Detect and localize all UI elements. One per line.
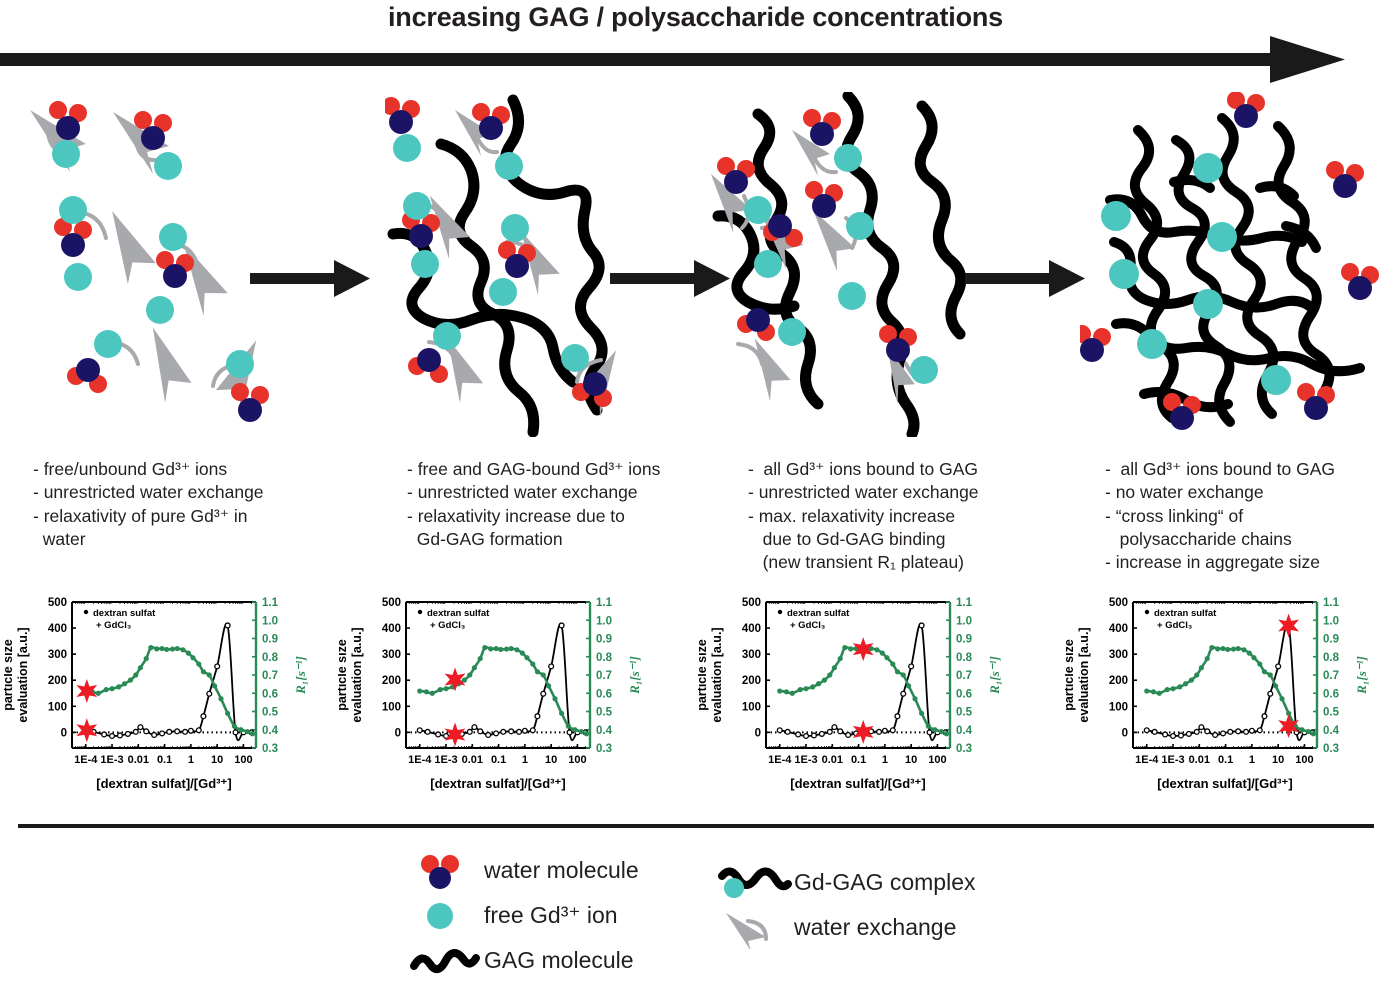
- svg-text:0.01: 0.01: [462, 754, 483, 766]
- legend-item-gag-molecule: GAG molecule: [408, 938, 639, 983]
- legend-item-water-molecule: water molecule: [408, 848, 639, 893]
- svg-text:10: 10: [211, 754, 223, 766]
- svg-text:R₁[s⁻¹]: R₁[s⁻¹]: [293, 656, 308, 695]
- svg-text:100: 100: [928, 754, 946, 766]
- legend-label: GAG molecule: [484, 947, 634, 974]
- svg-text:1: 1: [522, 754, 528, 766]
- svg-text:200: 200: [48, 675, 67, 687]
- legend-item-gd-gag-complex: Gd-GAG complex: [718, 860, 976, 905]
- svg-text:100: 100: [48, 701, 67, 713]
- svg-text:1: 1: [188, 754, 194, 766]
- svg-text:0.9: 0.9: [596, 634, 612, 646]
- svg-text:0.4: 0.4: [956, 725, 973, 737]
- legend-item-gd-ion: free Gd³⁺ ion: [408, 893, 639, 938]
- panel-3-description: - all Gd³⁺ ions bound to GAG - unrestric…: [748, 458, 1088, 574]
- svg-text:500: 500: [382, 597, 401, 609]
- gd-ion-icon: [408, 895, 484, 937]
- svg-text:0.8: 0.8: [956, 652, 973, 664]
- svg-text:0: 0: [395, 727, 401, 739]
- svg-text:400: 400: [382, 623, 401, 635]
- svg-text:evaluation [a.u.]: evaluation [a.u.]: [710, 627, 724, 722]
- svg-text:0.01: 0.01: [1189, 754, 1210, 766]
- svg-text:0.8: 0.8: [1323, 652, 1340, 664]
- bullet-item: - all Gd³⁺ ions bound to GAG: [1105, 458, 1390, 481]
- gd-ion-group: [52, 140, 254, 378]
- svg-text:0.4: 0.4: [262, 725, 279, 737]
- increasing-concentration-arrow-icon: [0, 33, 1391, 88]
- svg-text:400: 400: [1109, 623, 1128, 635]
- svg-text:1.0: 1.0: [956, 615, 972, 627]
- svg-text:1: 1: [882, 754, 888, 766]
- svg-text:R₁[s⁻¹]: R₁[s⁻¹]: [1354, 656, 1369, 695]
- svg-text:200: 200: [382, 675, 401, 687]
- svg-text:[dextran sulfat]/[Gd³⁺]: [dextran sulfat]/[Gd³⁺]: [96, 776, 231, 791]
- svg-text:0.1: 0.1: [157, 754, 172, 766]
- svg-text:0.5: 0.5: [956, 707, 973, 719]
- svg-text:0: 0: [755, 727, 761, 739]
- svg-text:R₁[s⁻¹]: R₁[s⁻¹]: [987, 656, 1002, 695]
- svg-text:300: 300: [48, 649, 67, 661]
- page-title: increasing GAG / polysaccharide concentr…: [0, 2, 1391, 33]
- svg-text:0.9: 0.9: [262, 634, 278, 646]
- figure-legend: water molecule free Gd³⁺ ion GAG molecul…: [0, 848, 1391, 975]
- stage-arrow-3-icon: [965, 258, 1085, 300]
- svg-text:+ GdCl₃: + GdCl₃: [1157, 620, 1192, 631]
- svg-text:500: 500: [1109, 597, 1128, 609]
- bullet-item: - unrestricted water exchange: [33, 481, 353, 504]
- svg-text:0.4: 0.4: [596, 725, 613, 737]
- bullet-item: - free and GAG-bound Gd³⁺ ions: [407, 458, 737, 481]
- svg-text:1.1: 1.1: [596, 597, 613, 609]
- gd-ion-group: [393, 134, 589, 372]
- svg-text:1E-3: 1E-3: [794, 754, 817, 766]
- bullet-item: - free/unbound Gd³⁺ ions: [33, 458, 353, 481]
- panel-illustration-all-bound: [700, 92, 990, 437]
- svg-text:0.6: 0.6: [956, 688, 972, 700]
- svg-text:particle size: particle size: [4, 639, 15, 711]
- panel-1-description: - free/unbound Gd³⁺ ions - unrestricted …: [33, 458, 353, 551]
- svg-text:0.1: 0.1: [491, 754, 506, 766]
- bullet-item: Gd-GAG formation: [407, 528, 737, 551]
- chart-panel-1: 01002003004005000.30.40.50.60.70.80.91.0…: [4, 588, 324, 793]
- chart-panel-3: 01002003004005000.30.40.50.60.70.80.91.0…: [698, 588, 1018, 793]
- svg-text:[dextran sulfat]/[Gd³⁺]: [dextran sulfat]/[Gd³⁺]: [1157, 776, 1292, 791]
- svg-text:dextran sulfat: dextran sulfat: [427, 608, 490, 619]
- svg-text:0.5: 0.5: [1323, 707, 1340, 719]
- section-divider: [18, 824, 1374, 828]
- svg-text:0.6: 0.6: [596, 688, 612, 700]
- svg-text:1.1: 1.1: [262, 597, 279, 609]
- svg-text:dextran sulfat: dextran sulfat: [787, 608, 850, 619]
- svg-text:0: 0: [61, 727, 67, 739]
- svg-text:0.8: 0.8: [596, 652, 613, 664]
- svg-text:0.6: 0.6: [262, 688, 278, 700]
- svg-text:0.3: 0.3: [596, 743, 612, 755]
- svg-text:200: 200: [1109, 675, 1128, 687]
- bullet-item: - unrestricted water exchange: [748, 481, 1088, 504]
- legend-item-water-exchange: water exchange: [718, 905, 976, 950]
- svg-text:0: 0: [1122, 727, 1128, 739]
- svg-text:0.5: 0.5: [596, 707, 613, 719]
- svg-text:0.7: 0.7: [1323, 670, 1339, 682]
- svg-text:0.01: 0.01: [128, 754, 149, 766]
- svg-text:100: 100: [1109, 701, 1128, 713]
- svg-text:1E-4: 1E-4: [74, 754, 98, 766]
- svg-text:0.6: 0.6: [1323, 688, 1339, 700]
- svg-text:particle size: particle size: [1065, 639, 1076, 711]
- svg-text:[dextran sulfat]/[Gd³⁺]: [dextran sulfat]/[Gd³⁺]: [790, 776, 925, 791]
- svg-text:0.7: 0.7: [956, 670, 972, 682]
- svg-text:1.0: 1.0: [596, 615, 612, 627]
- bullet-item: - unrestricted water exchange: [407, 481, 737, 504]
- bullet-item: - relaxativity of pure Gd³⁺ in: [33, 505, 353, 528]
- svg-text:500: 500: [48, 597, 67, 609]
- panel-2-description: - free and GAG-bound Gd³⁺ ions - unrestr…: [407, 458, 737, 551]
- svg-text:0.8: 0.8: [262, 652, 279, 664]
- svg-text:1E-4: 1E-4: [1135, 754, 1159, 766]
- chart-panel-4: 01002003004005000.30.40.50.60.70.80.91.0…: [1065, 588, 1385, 793]
- svg-text:100: 100: [234, 754, 252, 766]
- gag-molecule-icon: [408, 940, 484, 982]
- svg-text:0.1: 0.1: [851, 754, 866, 766]
- svg-text:100: 100: [1295, 754, 1313, 766]
- legend-label: free Gd³⁺ ion: [484, 902, 618, 929]
- svg-text:10: 10: [905, 754, 917, 766]
- panel-illustration-crosslinked-network: [1080, 92, 1380, 437]
- svg-text:1E-4: 1E-4: [408, 754, 432, 766]
- svg-text:10: 10: [1272, 754, 1284, 766]
- panel-4-description: - all Gd³⁺ ions bound to GAG - no water …: [1105, 458, 1390, 574]
- svg-text:1.0: 1.0: [262, 615, 278, 627]
- svg-text:1E-4: 1E-4: [768, 754, 792, 766]
- svg-text:dextran sulfat: dextran sulfat: [93, 608, 156, 619]
- svg-text:0.3: 0.3: [956, 743, 972, 755]
- bullet-item: - no water exchange: [1105, 481, 1390, 504]
- svg-text:+ GdCl₃: + GdCl₃: [430, 620, 465, 631]
- svg-text:+ GdCl₃: + GdCl₃: [96, 620, 131, 631]
- svg-text:evaluation [a.u.]: evaluation [a.u.]: [350, 627, 364, 722]
- stage-arrow-1-icon: [250, 258, 370, 300]
- legend-column-right: Gd-GAG complex water exchange: [718, 860, 976, 950]
- svg-text:500: 500: [742, 597, 761, 609]
- svg-text:0.9: 0.9: [1323, 634, 1339, 646]
- bullet-item: water: [33, 528, 353, 551]
- svg-text:particle size: particle size: [338, 639, 349, 711]
- svg-text:100: 100: [568, 754, 586, 766]
- svg-text:400: 400: [742, 623, 761, 635]
- svg-text:1.0: 1.0: [1323, 615, 1339, 627]
- bullet-item: - all Gd³⁺ ions bound to GAG: [748, 458, 1088, 481]
- bullet-item: (new transient R₁ plateau): [748, 551, 1088, 574]
- gd-gag-complex-icon: [718, 862, 794, 904]
- svg-text:evaluation [a.u.]: evaluation [a.u.]: [16, 627, 30, 722]
- gag-chain-group: [1110, 118, 1360, 422]
- svg-text:300: 300: [742, 649, 761, 661]
- bullet-item: - relaxativity increase due to: [407, 505, 737, 528]
- svg-text:+ GdCl₃: + GdCl₃: [790, 620, 825, 631]
- legend-label: Gd-GAG complex: [794, 869, 976, 896]
- svg-text:evaluation [a.u.]: evaluation [a.u.]: [1077, 627, 1091, 722]
- svg-text:1: 1: [1249, 754, 1255, 766]
- svg-text:0.7: 0.7: [596, 670, 612, 682]
- svg-text:300: 300: [1109, 649, 1128, 661]
- legend-column-left: water molecule free Gd³⁺ ion GAG molecul…: [408, 848, 639, 983]
- svg-text:400: 400: [48, 623, 67, 635]
- bullet-item: - “cross linking“ of: [1105, 505, 1390, 528]
- svg-text:200: 200: [742, 675, 761, 687]
- bullet-item: - max. relaxativity increase: [748, 505, 1088, 528]
- svg-text:0.7: 0.7: [262, 670, 278, 682]
- water-molecule-icon: [408, 850, 484, 892]
- svg-text:1E-3: 1E-3: [100, 754, 123, 766]
- svg-text:100: 100: [382, 701, 401, 713]
- svg-text:0.3: 0.3: [1323, 743, 1339, 755]
- legend-label: water exchange: [794, 914, 956, 941]
- svg-text:particle size: particle size: [698, 639, 709, 711]
- svg-text:0.4: 0.4: [1323, 725, 1340, 737]
- svg-text:1.1: 1.1: [956, 597, 973, 609]
- svg-text:[dextran sulfat]/[Gd³⁺]: [dextran sulfat]/[Gd³⁺]: [430, 776, 565, 791]
- bullet-item: - increase in aggregate size: [1105, 551, 1390, 574]
- chart-panel-2: 01002003004005000.30.40.50.60.70.80.91.0…: [338, 588, 658, 793]
- svg-text:dextran sulfat: dextran sulfat: [1154, 608, 1217, 619]
- svg-text:1E-3: 1E-3: [434, 754, 457, 766]
- svg-text:10: 10: [545, 754, 557, 766]
- water-exchange-icon: [718, 907, 794, 949]
- svg-text:100: 100: [742, 701, 761, 713]
- bullet-item: polysaccharide chains: [1105, 528, 1390, 551]
- svg-text:0.01: 0.01: [822, 754, 843, 766]
- svg-text:R₁[s⁻¹]: R₁[s⁻¹]: [627, 656, 642, 695]
- svg-text:0.3: 0.3: [262, 743, 278, 755]
- svg-text:1E-3: 1E-3: [1161, 754, 1184, 766]
- legend-label: water molecule: [484, 857, 639, 884]
- svg-text:300: 300: [382, 649, 401, 661]
- svg-text:0.5: 0.5: [262, 707, 279, 719]
- svg-text:1.1: 1.1: [1323, 597, 1340, 609]
- svg-text:0.9: 0.9: [956, 634, 972, 646]
- bullet-item: due to Gd-GAG binding: [748, 528, 1088, 551]
- svg-text:0.1: 0.1: [1218, 754, 1233, 766]
